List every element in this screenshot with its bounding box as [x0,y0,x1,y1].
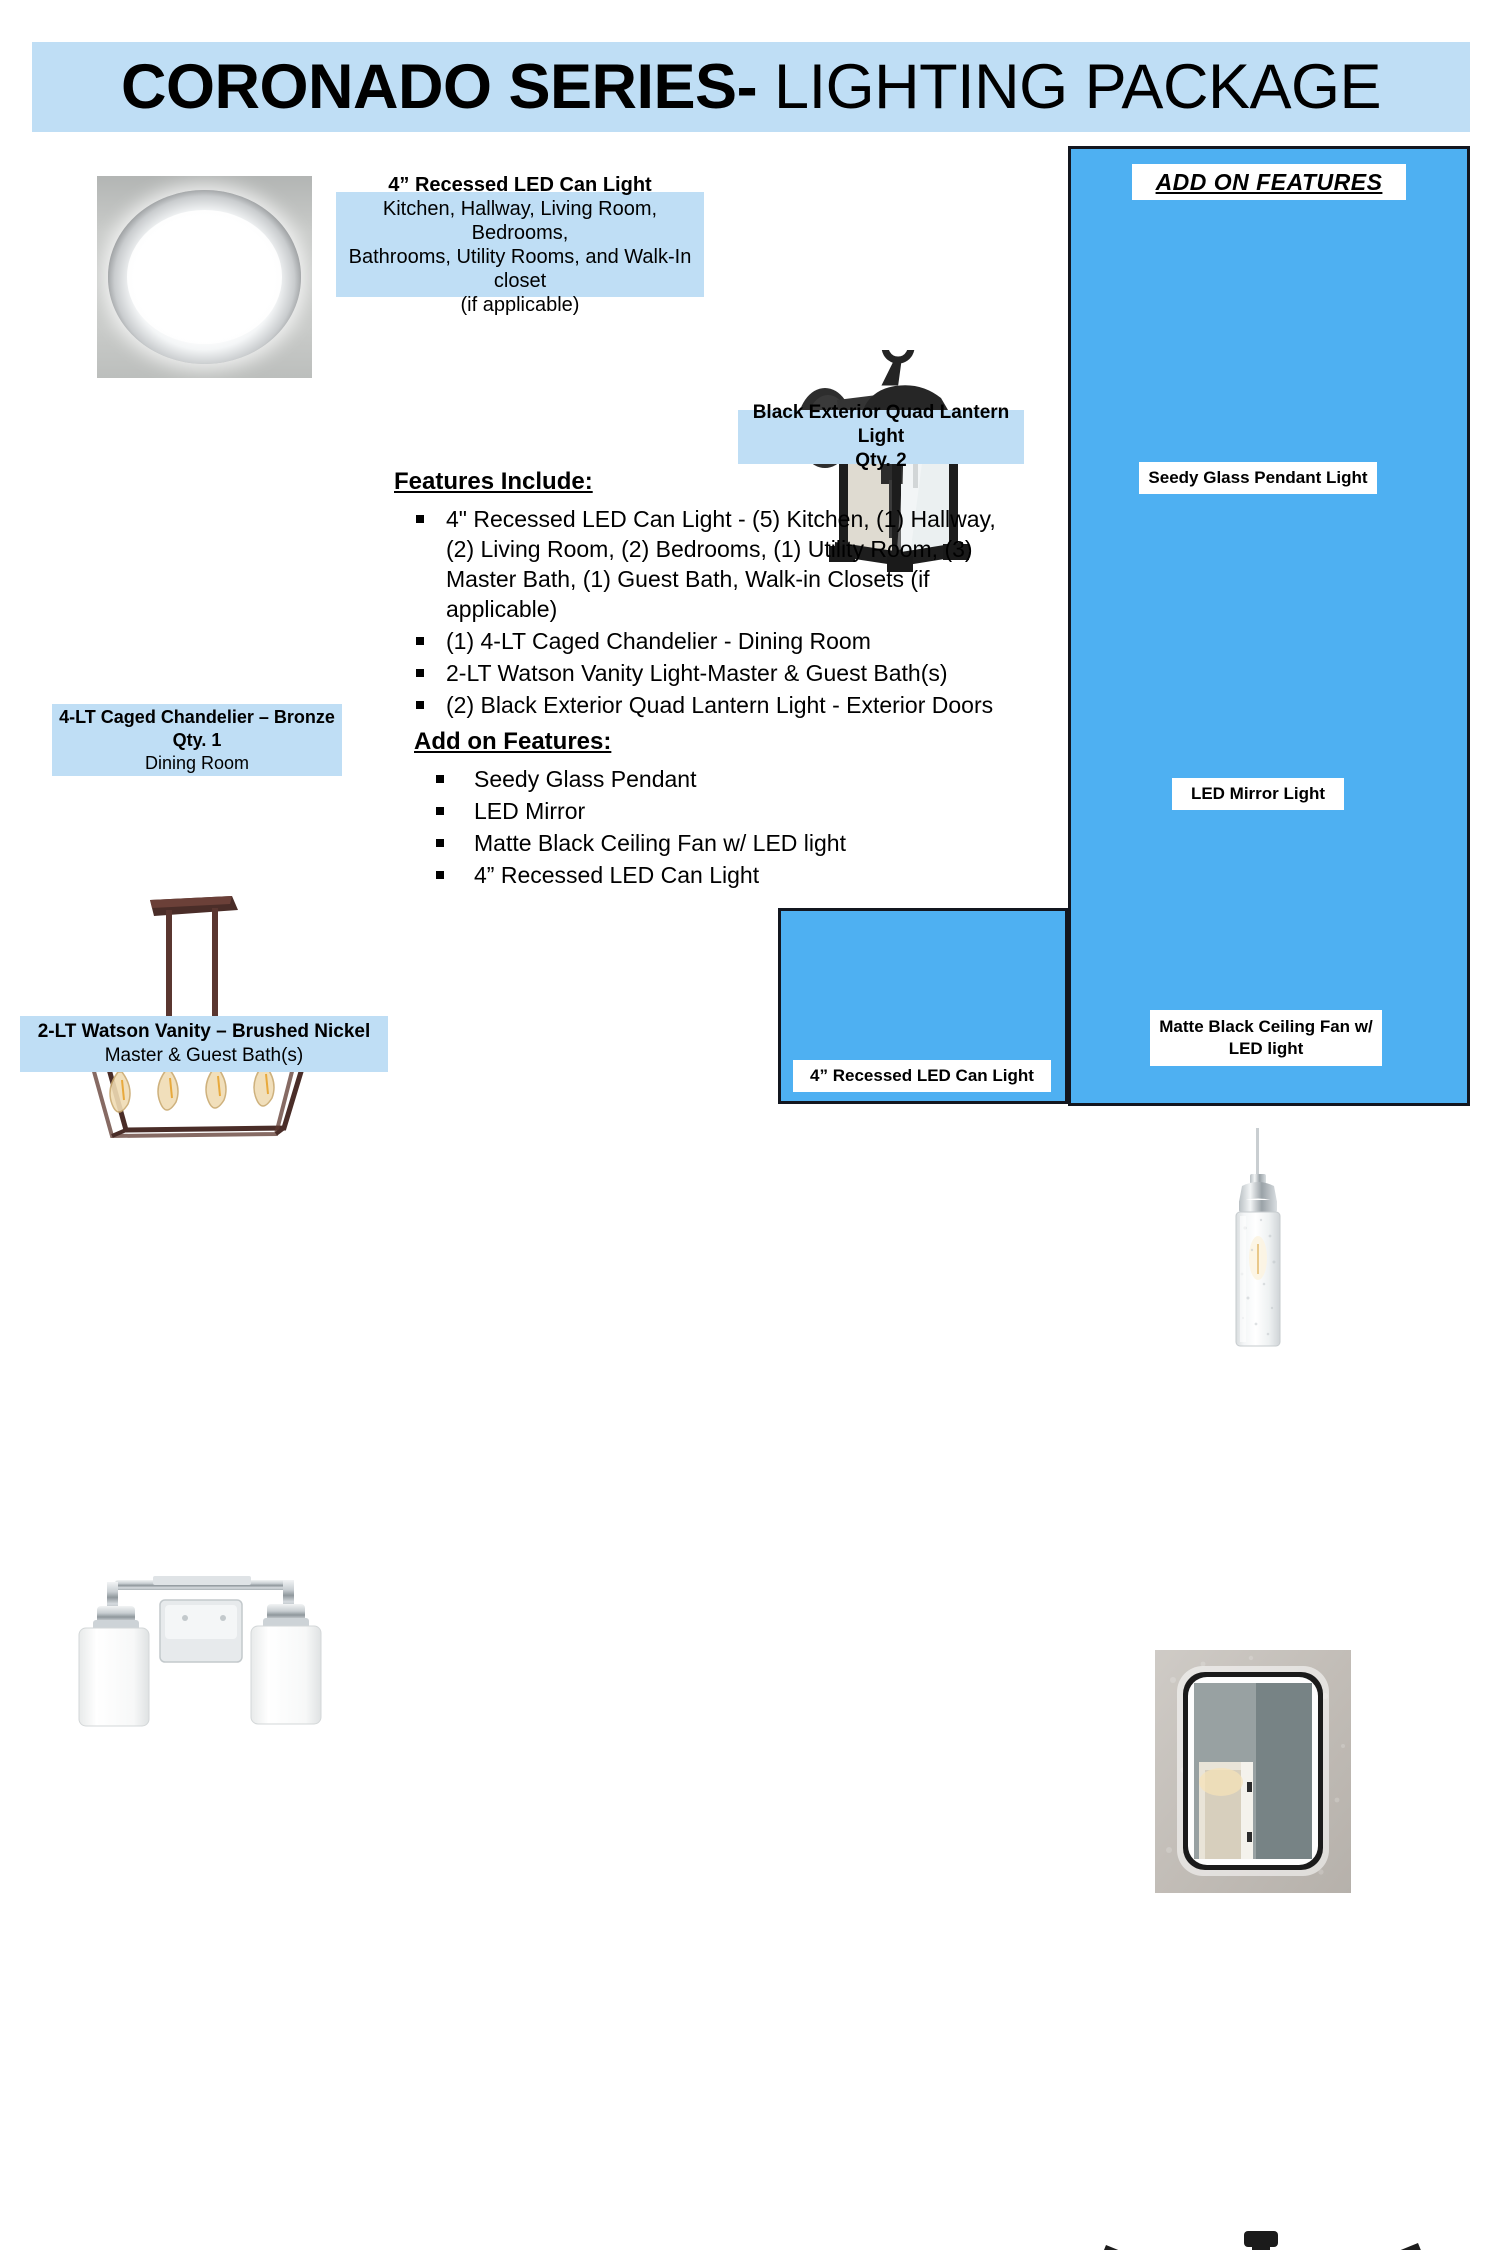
addon-features-heading: Add on Features: [414,728,874,756]
page-title: CORONADO SERIES- LIGHTING PACKAGE [121,56,1381,119]
vanity-caption-rooms: Master & Guest Bath(s) [105,1044,304,1068]
bullet-square-icon [436,839,444,847]
ceiling-fan-caption: Matte Black Ceiling Fan w/ LED light [1150,1010,1382,1066]
ceiling-fan-illustration [1088,2223,1431,2250]
bullet-square-icon [436,807,444,815]
recessed-can-caption-line3: Bathrooms, Utility Rooms, and Walk-In cl… [336,245,704,293]
vanity-caption-title: 2-LT Watson Vanity – Brushed Nickel [38,1020,371,1044]
addon-list-item: LED Mirror [414,796,874,826]
addon-item-text: Seedy Glass Pendant [474,766,696,792]
bullet-square-icon [416,701,424,709]
can-light-glow [127,210,282,343]
addon-item-text: 4” Recessed LED Can Light [474,862,759,888]
addon-item-text: Matte Black Ceiling Fan w/ LED light [474,830,846,856]
led-mirror-illustration [1155,1650,1351,1893]
add-on-features-title: ADD ON FEATURES [1156,169,1383,196]
add-on-features-panel [1068,146,1470,1106]
features-item-text: (1) 4-LT Caged Chandelier - Dining Room [446,628,871,654]
page-title-series: CORONADO SERIES- [121,52,757,122]
pendant-caption-text: Seedy Glass Pendant Light [1148,468,1367,488]
recessed-can-caption: 4” Recessed LED Can Light Kitchen, Hallw… [336,192,704,297]
bullet-square-icon [416,515,424,523]
bullet-square-icon [436,775,444,783]
ceiling-fan-caption-line2: LED light [1229,1038,1304,1060]
addon-features-section: Add on Features: Seedy Glass Pendant LED… [414,728,874,892]
recessed-can-caption-line2: Kitchen, Hallway, Living Room, Bedrooms, [336,197,704,245]
features-item-text: 4" Recessed LED Can Light - (5) Kitchen,… [446,506,996,622]
chandelier-caption-title: 4-LT Caged Chandelier – Bronze [59,706,335,729]
chandelier-caption-qty: Qty. 1 [173,729,222,752]
features-item-text: (2) Black Exterior Quad Lantern Light - … [446,692,993,718]
led-mirror-caption-text: LED Mirror Light [1191,784,1325,804]
ceiling-fan-caption-line1: Matte Black Ceiling Fan w/ [1159,1016,1373,1038]
lantern-caption: Black Exterior Quad Lantern Light Qty. 2 [738,410,1024,464]
vanity-light-illustration [55,1556,345,1736]
features-item-text: 2-LT Watson Vanity Light-Master & Guest … [446,660,948,686]
bullet-square-icon [436,871,444,879]
add-on-features-title-box: ADD ON FEATURES [1132,164,1406,200]
bullet-square-icon [416,669,424,677]
led-mirror-caption: LED Mirror Light [1172,778,1344,810]
led-mirror-photo [1155,1650,1351,1893]
bullet-square-icon [416,637,424,645]
header-banner: CORONADO SERIES- LIGHTING PACKAGE [32,42,1470,132]
watson-vanity-photo [55,1556,345,1736]
addon-list-item: 4” Recessed LED Can Light [414,860,874,890]
addon-list-item: Seedy Glass Pendant [414,764,874,794]
recessed-can-caption-line4: (if applicable) [461,293,580,317]
recessed-can-light-photo [97,176,312,378]
features-list: 4" Recessed LED Can Light - (5) Kitchen,… [394,504,1024,720]
addon-list-item: Matte Black Ceiling Fan w/ LED light [414,828,874,858]
lantern-caption-title: Black Exterior Quad Lantern Light [738,401,1024,449]
chandelier-caption-room: Dining Room [145,752,249,775]
ceiling-fan-photo [1088,2223,1431,2250]
pendant-caption: Seedy Glass Pendant Light [1139,462,1377,494]
bottom-can-light-caption-text: 4” Recessed LED Can Light [810,1066,1034,1086]
addon-item-text: LED Mirror [474,798,585,824]
vanity-caption: 2-LT Watson Vanity – Brushed Nickel Mast… [20,1016,388,1072]
features-section: Features Include: 4" Recessed LED Can Li… [394,468,1024,722]
seedy-glass-pendant-photo [1212,1128,1304,1360]
features-list-item: (2) Black Exterior Quad Lantern Light - … [394,690,1024,720]
chandelier-caption: 4-LT Caged Chandelier – Bronze Qty. 1 Di… [52,704,342,776]
recessed-can-caption-title: 4” Recessed LED Can Light [388,173,651,197]
features-list-item: (1) 4-LT Caged Chandelier - Dining Room [394,626,1024,656]
addon-features-list: Seedy Glass Pendant LED Mirror Matte Bla… [414,764,874,890]
features-heading: Features Include: [394,468,1024,496]
features-list-item: 2-LT Watson Vanity Light-Master & Guest … [394,658,1024,688]
features-list-item: 4" Recessed LED Can Light - (5) Kitchen,… [394,504,1024,624]
page-title-package: LIGHTING PACKAGE [757,52,1381,122]
pendant-light-illustration [1212,1128,1304,1360]
bottom-can-light-caption: 4” Recessed LED Can Light [793,1060,1051,1092]
